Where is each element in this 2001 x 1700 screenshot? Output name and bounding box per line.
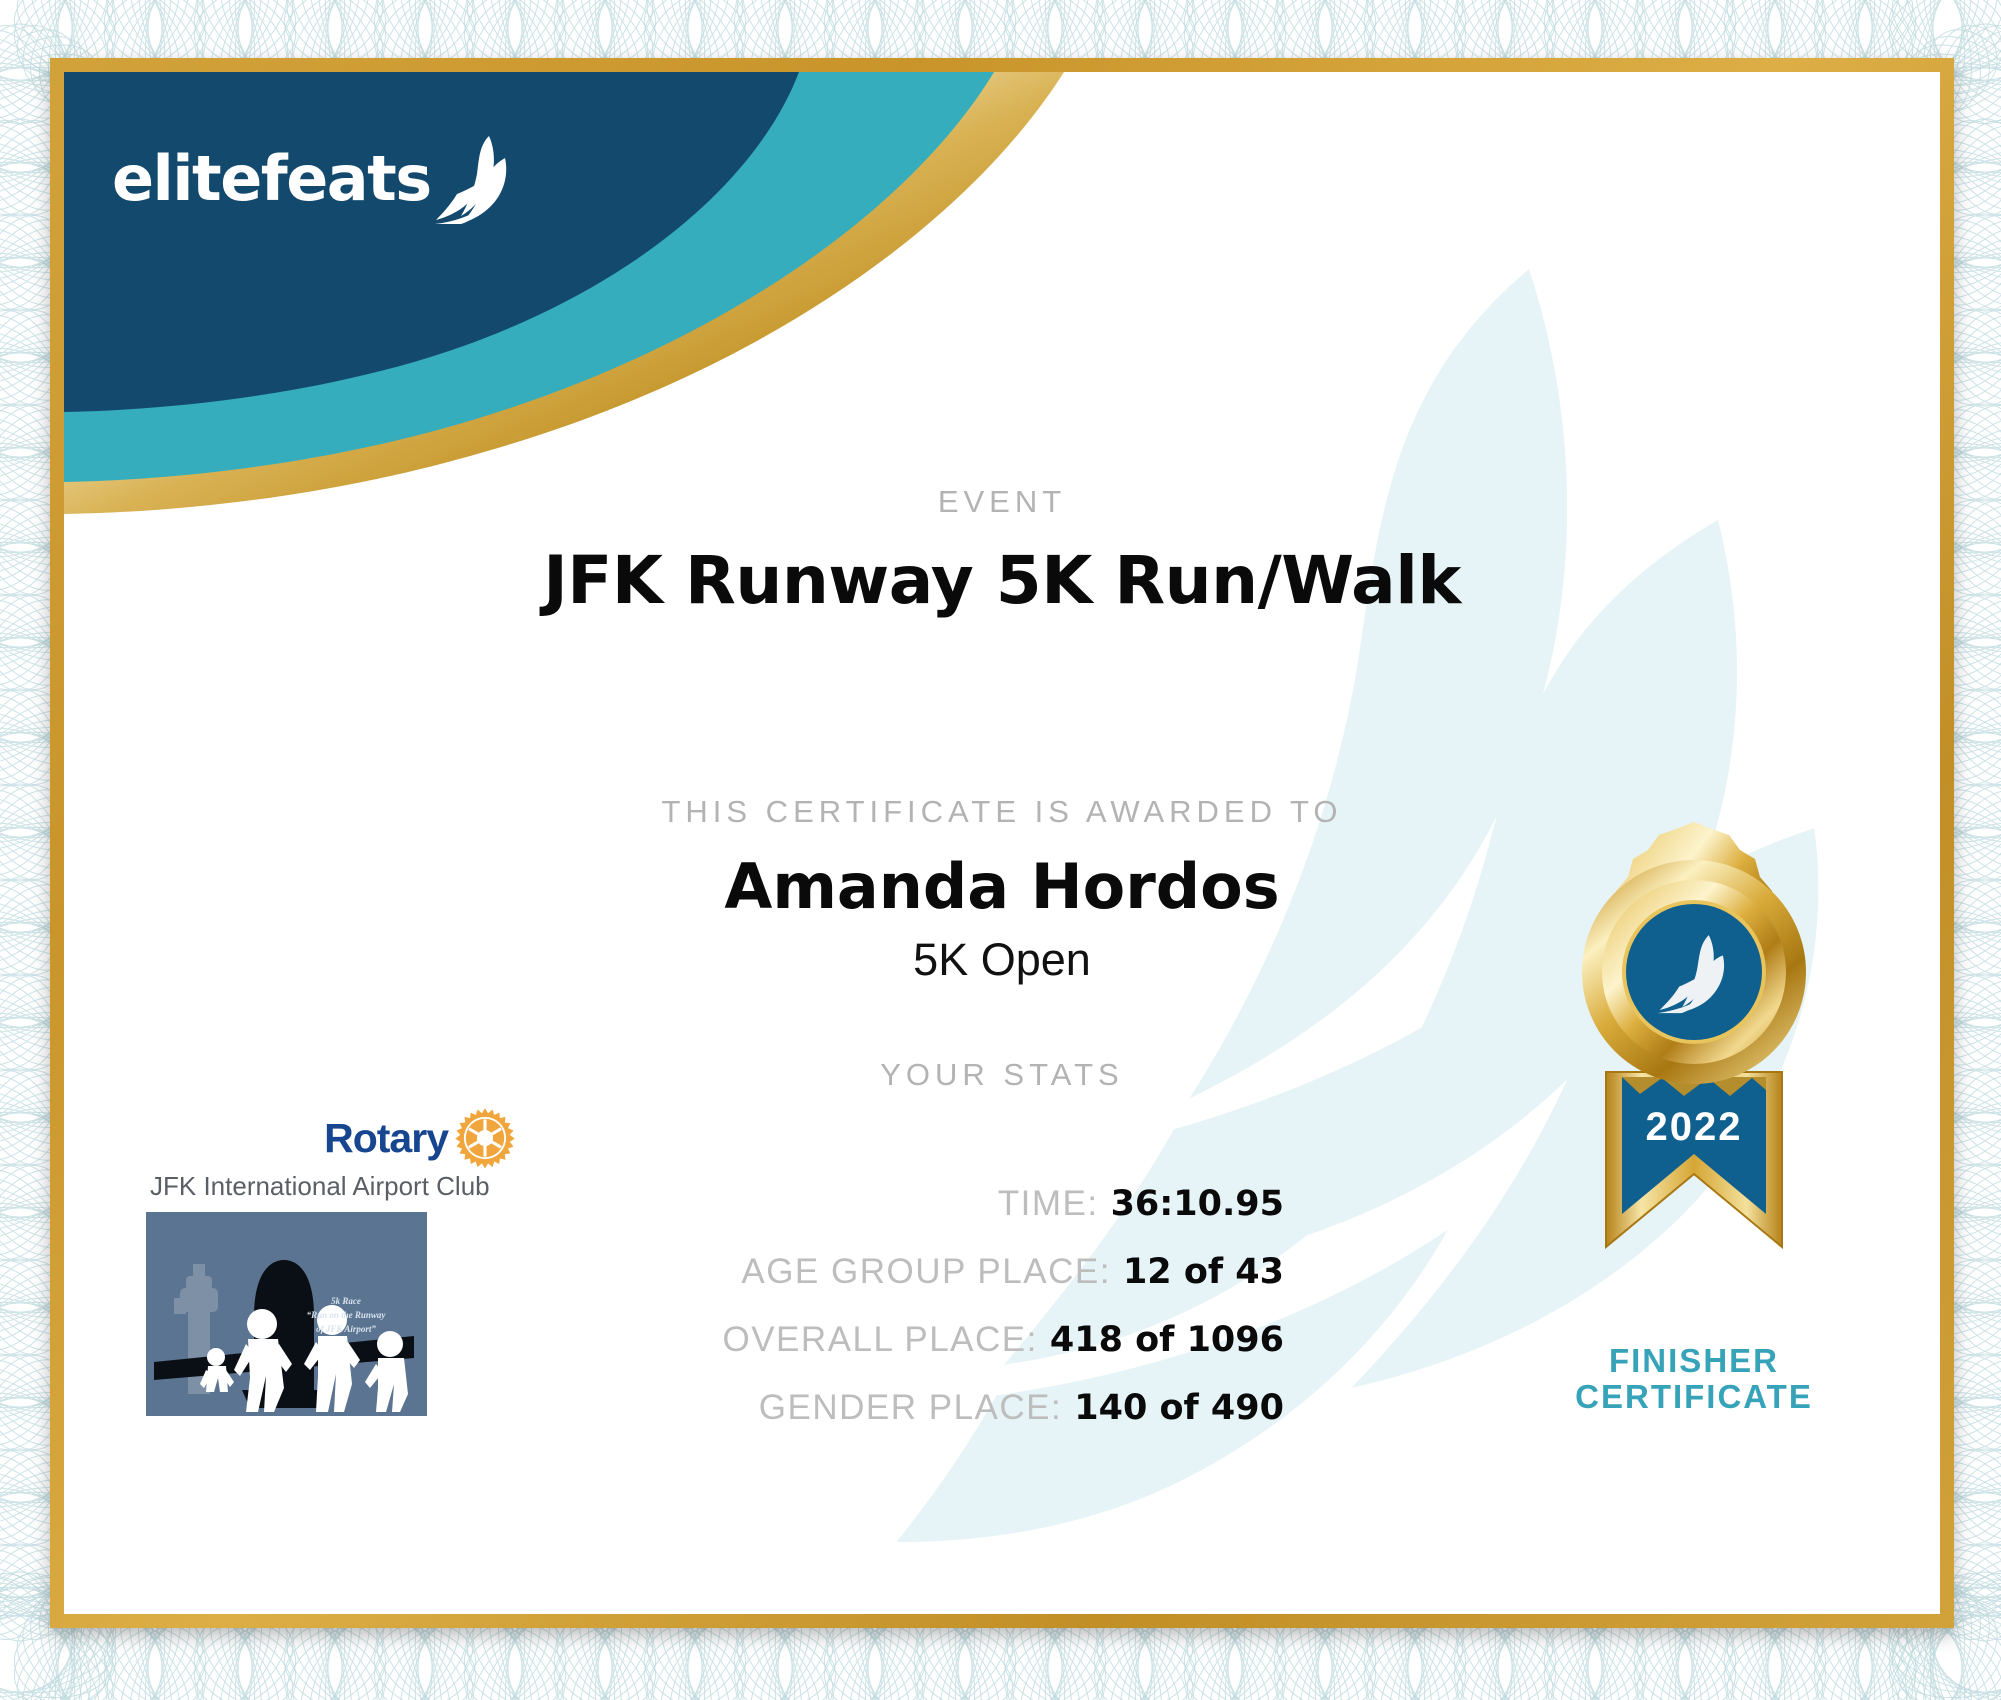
artwork-caption-line1: 5k Race xyxy=(331,1296,361,1306)
stat-label: GENDER PLACE: xyxy=(759,1388,1062,1428)
winged-foot-icon xyxy=(433,132,513,224)
medal-year: 2022 xyxy=(1646,1105,1743,1149)
artwork-caption-line2: “Run on the Runway xyxy=(307,1310,387,1320)
finisher-medal: 2022 FINIS xyxy=(1519,822,1869,1414)
stat-value: 36:10.95 xyxy=(1111,1184,1284,1224)
stat-label: AGE GROUP PLACE: xyxy=(741,1252,1111,1292)
event-name: JFK Runway 5K Run/Walk xyxy=(64,542,1940,619)
stat-label: OVERALL PLACE: xyxy=(722,1320,1037,1360)
elitefeats-wordmark: elitefeats xyxy=(112,148,431,210)
artwork-caption-line3: of JFK Airport” xyxy=(316,1324,376,1334)
stat-value: 140 of 490 xyxy=(1074,1388,1284,1428)
finisher-caption-line1: FINISHER xyxy=(1519,1343,1869,1379)
elitefeats-logo: elitefeats xyxy=(112,132,513,210)
sponsor-block: Rotary xyxy=(146,1107,516,1416)
rotary-logo: Rotary xyxy=(146,1107,516,1169)
medal-graphic: 2022 xyxy=(1544,822,1844,1332)
stat-value: 12 of 43 xyxy=(1123,1252,1284,1292)
event-label: EVENT xyxy=(64,484,1940,520)
finisher-caption: FINISHER CERTIFICATE xyxy=(1519,1343,1869,1414)
race-artwork-image: 5k Race “Run on the Runway of JFK Airpor… xyxy=(146,1212,427,1416)
finisher-caption-line2: CERTIFICATE xyxy=(1519,1379,1869,1415)
rotary-club-name: JFK International Airport Club xyxy=(146,1171,516,1202)
rotary-gear-icon xyxy=(454,1107,516,1169)
certificate-body: elitefeats EVENT JFK Runway 5K Run/Walk … xyxy=(64,72,1940,1614)
certificate-gold-frame: elitefeats EVENT JFK Runway 5K Run/Walk … xyxy=(50,58,1954,1628)
stat-label: TIME: xyxy=(998,1184,1099,1224)
rotary-wordmark: Rotary xyxy=(324,1118,448,1159)
stat-value: 418 of 1096 xyxy=(1050,1320,1284,1360)
